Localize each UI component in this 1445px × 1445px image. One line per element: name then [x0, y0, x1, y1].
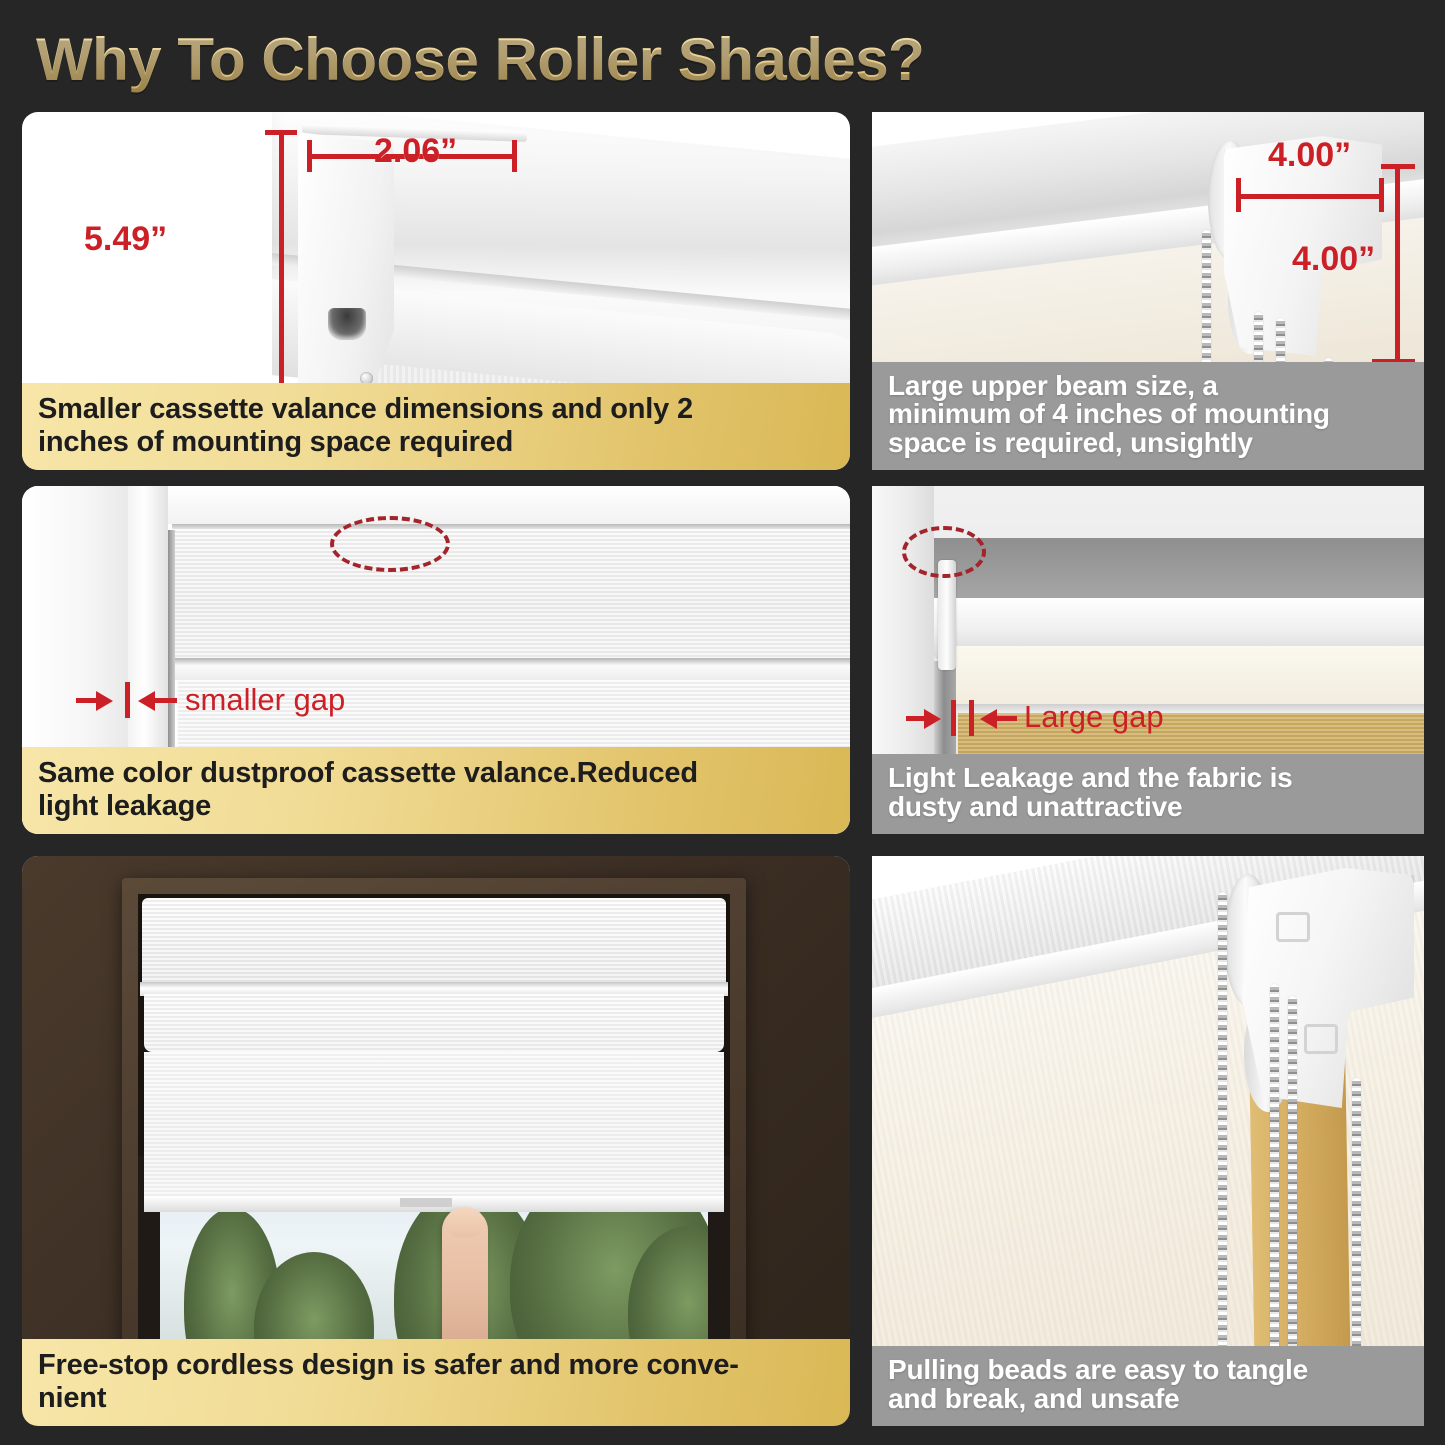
bead-chain — [1218, 892, 1227, 1362]
dim-width-tick-left — [307, 140, 312, 172]
gap-arrow-right-icon — [96, 691, 113, 711]
window-head-shape — [168, 486, 850, 524]
dim-height-tick-top — [1381, 164, 1415, 169]
upper-beam-gray-band — [934, 538, 1424, 600]
gap-label: smaller gap — [185, 682, 345, 718]
caption-panel-2: Large upper beam size, a minimum of 4 in… — [872, 362, 1424, 470]
caption-line: dusty and unattractive — [888, 793, 1408, 822]
shade-mid-rail — [172, 658, 850, 680]
bead-chain — [1288, 996, 1297, 1364]
caption-line: Light Leakage and the fabric is — [888, 764, 1408, 793]
caption-line: Smaller cassette valance dimensions and … — [38, 393, 834, 425]
gap-arrow-stem-right — [153, 698, 177, 703]
caption-line: Same color dustproof cassette valance.Re… — [38, 757, 834, 789]
gap-tick-mark — [125, 682, 130, 718]
caption-panel-4: Light Leakage and the fabric is dusty an… — [872, 754, 1424, 834]
caption-line: Pulling beads are easy to tangle — [888, 1356, 1408, 1385]
dim-width-label: 4.00” — [1268, 136, 1351, 175]
highlight-ellipse-icon — [902, 526, 986, 578]
gap-arrow-stem-right — [995, 716, 1017, 721]
caption-panel-3: Same color dustproof cassette valance.Re… — [22, 747, 850, 834]
panel-light-leakage: Large gap Light Leakage and the fabric i… — [872, 486, 1424, 834]
highlight-ellipse-icon — [330, 516, 450, 572]
gap-tick-mark — [951, 700, 956, 736]
gap-tick-mark — [969, 700, 974, 736]
panel-pulling-beads: Pulling beads are easy to tangle and bre… — [872, 856, 1424, 1426]
caption-line: light leakage — [38, 790, 834, 822]
dim-height-label: 5.49” — [84, 220, 167, 259]
dim-width-tick-left — [1236, 178, 1241, 212]
roller-shade-fabric — [144, 1052, 724, 1204]
cassette-valance-front — [142, 898, 726, 984]
dim-width-stem — [1236, 194, 1384, 199]
caption-panel-1: Smaller cassette valance dimensions and … — [22, 383, 850, 470]
shade-band-upper — [174, 529, 850, 661]
bracket-icon-lower — [1304, 1024, 1338, 1054]
bead-chain — [1270, 984, 1279, 1364]
caption-line: Large upper beam size, a — [888, 372, 1408, 401]
caption-line: minimum of 4 inches of mounting — [888, 400, 1408, 429]
caption-line: inches of mounting space required — [38, 426, 834, 458]
panel-dustproof-valance: smaller gap Same color dustproof cassett… — [22, 486, 850, 834]
hand-knuckle-shape — [446, 1208, 484, 1238]
dim-height-label: 4.00” — [1292, 240, 1375, 279]
panel-large-beam: 4.00” 4.00” Large upper beam size, a min… — [872, 112, 1424, 470]
gap-label: Large gap — [1024, 699, 1164, 735]
infographic-page: Why To Choose Roller Shades? 2.06” 5.49” — [0, 0, 1445, 1445]
dim-height-tick-top — [265, 130, 297, 135]
dim-height-stem — [1395, 164, 1400, 364]
gap-arrow-stem-left — [906, 716, 926, 721]
gap-arrow-right-icon — [924, 709, 941, 729]
dim-width-tick-right — [1379, 178, 1384, 212]
panel-cordless-design: Free-stop cordless design is safer and m… — [22, 856, 850, 1426]
gap-arrow-stem-left — [76, 698, 98, 703]
bracket-icon-upper — [1276, 912, 1310, 942]
pulling-beads-photo — [872, 856, 1424, 1426]
caption-line: space is required, unsightly — [888, 429, 1408, 458]
dim-width-tick-right — [512, 140, 517, 172]
shade-brand-tag — [400, 1198, 452, 1207]
page-title: Why To Choose Roller Shades? — [36, 24, 1136, 96]
panel-cassette-dimensions: 2.06” 5.49” Smaller cassette valance dim… — [22, 112, 850, 470]
cassette-valance-lower — [144, 994, 724, 1052]
caption-line: Free-stop cordless design is safer and m… — [38, 1349, 834, 1381]
caption-panel-6: Pulling beads are easy to tangle and bre… — [872, 1346, 1424, 1426]
valance-slot-shape — [328, 308, 366, 340]
caption-panel-5: Free-stop cordless design is safer and m… — [22, 1339, 850, 1426]
dim-width-label: 2.06” — [374, 132, 457, 171]
caption-line: nient — [38, 1382, 834, 1414]
bead-chain — [1352, 1078, 1361, 1364]
caption-line: and break, and unsafe — [888, 1385, 1408, 1414]
